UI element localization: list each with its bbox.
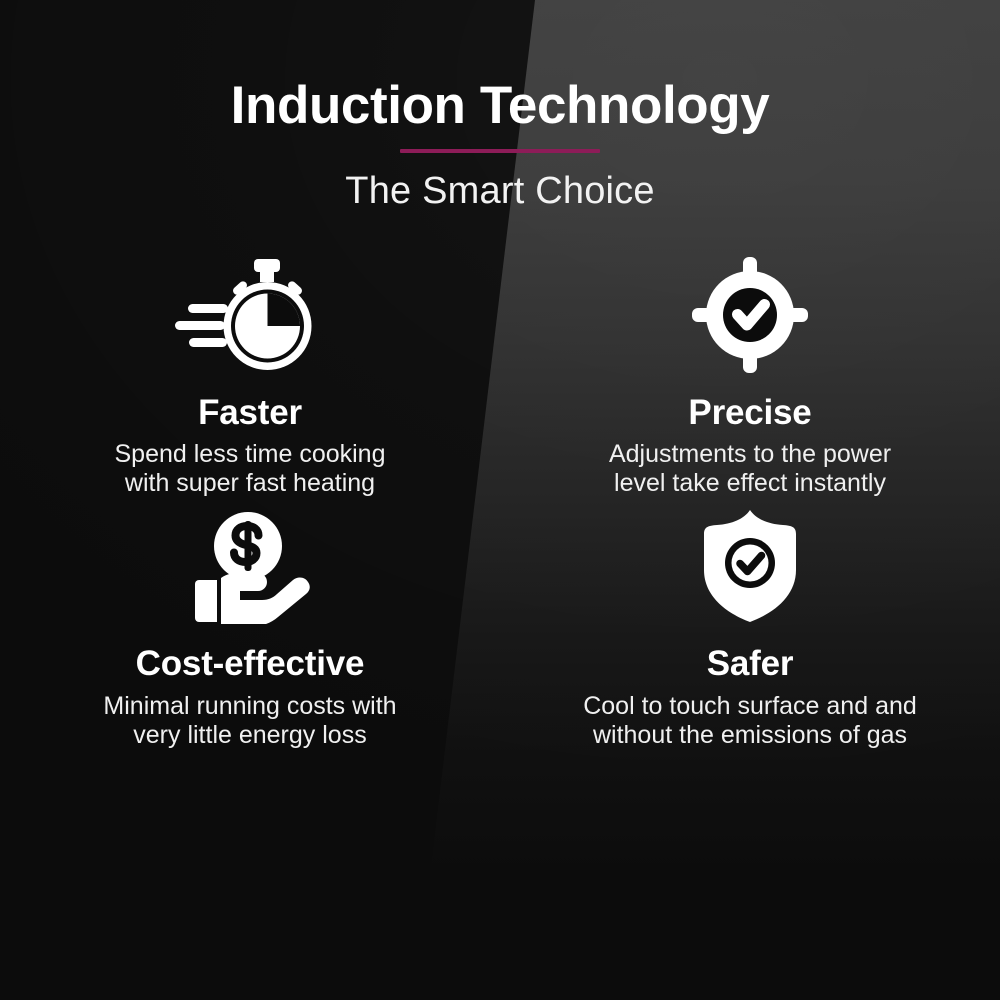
feature-card-safer: Safer Cool to touch surface and and with… bbox=[500, 508, 1000, 750]
title-accent-rule bbox=[400, 149, 600, 153]
feature-description: Minimal running costs with very little e… bbox=[103, 692, 396, 750]
feature-description-line: level take effect instantly bbox=[609, 469, 891, 498]
feature-description-line: Minimal running costs with bbox=[103, 692, 396, 721]
feature-description-line: very little energy loss bbox=[103, 721, 396, 750]
feature-card-cost-effective: Cost-effective Minimal running costs wit… bbox=[0, 508, 500, 750]
feature-description-line: Spend less time cooking bbox=[115, 440, 386, 469]
feature-description-line: without the emissions of gas bbox=[583, 721, 917, 750]
feature-grid: Faster Spend less time cooking with supe… bbox=[0, 257, 1000, 751]
feature-title: Safer bbox=[707, 645, 794, 683]
feature-title: Cost-effective bbox=[136, 645, 365, 683]
target-check-icon bbox=[692, 257, 808, 373]
page-title: Induction Technology bbox=[0, 78, 1000, 134]
poster-content: Induction Technology The Smart Choice bbox=[0, 0, 1000, 1000]
shield-check-icon bbox=[698, 508, 802, 624]
feature-description: Spend less time cooking with super fast … bbox=[115, 440, 386, 498]
induction-technology-infographic: Induction Technology The Smart Choice bbox=[0, 0, 1000, 1000]
feature-title: Faster bbox=[198, 394, 302, 432]
poster-header: Induction Technology The Smart Choice bbox=[0, 0, 1000, 213]
feature-card-precise: Precise Adjustments to the power level t… bbox=[500, 257, 1000, 499]
feature-title: Precise bbox=[688, 394, 811, 432]
feature-description-line: Adjustments to the power bbox=[609, 440, 891, 469]
feature-description: Adjustments to the power level take effe… bbox=[609, 440, 891, 498]
fast-stopwatch-icon bbox=[175, 257, 325, 373]
feature-description-line: with super fast heating bbox=[115, 469, 386, 498]
page-subtitle: The Smart Choice bbox=[0, 170, 1000, 213]
feature-description: Cool to touch surface and and without th… bbox=[583, 692, 917, 750]
feature-description-line: Cool to touch surface and and bbox=[583, 692, 917, 721]
hand-coin-dollar-icon bbox=[185, 508, 315, 624]
feature-card-faster: Faster Spend less time cooking with supe… bbox=[0, 257, 500, 499]
